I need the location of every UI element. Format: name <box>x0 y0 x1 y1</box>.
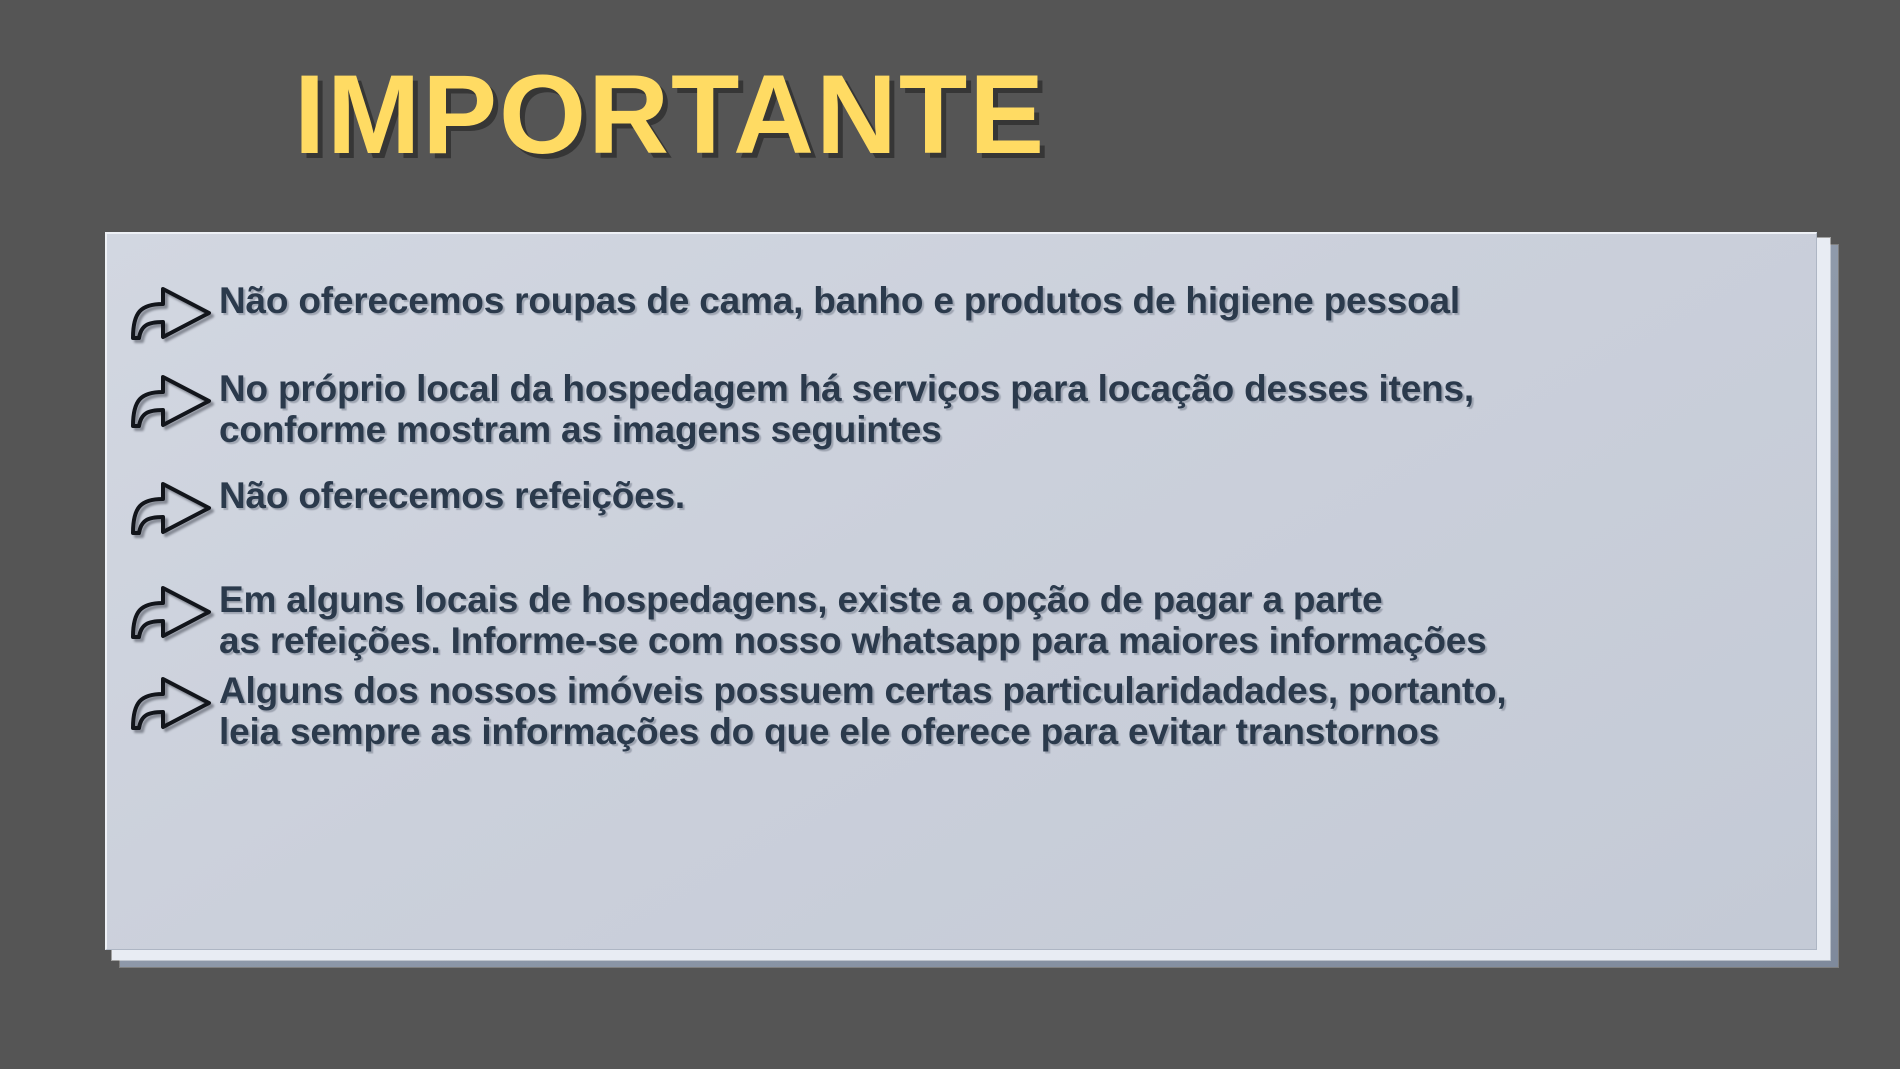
list-item-label: Não oferecemos roupas de cama, banho e p… <box>219 278 1460 321</box>
list-item: No próprio local da hospedagem há serviç… <box>121 366 1806 451</box>
list-item-label: No próprio local da hospedagem há serviç… <box>219 366 1474 451</box>
list-item: Não oferecemos refeições. <box>121 473 1806 539</box>
list-item: Alguns dos nossos imóveis possuem certas… <box>121 668 1806 753</box>
list-item-label: Em alguns locais de hospedagens, existe … <box>219 577 1486 662</box>
content-panel: Não oferecemos roupas de cama, banho e p… <box>105 232 1817 950</box>
curved-block-arrow-right-icon <box>127 581 215 643</box>
bullet-list: Não oferecemos roupas de cama, banho e p… <box>121 278 1806 753</box>
list-item-label: Não oferecemos refeições. <box>219 473 685 516</box>
page-title: IMPORTANTE <box>0 56 1340 174</box>
list-item-label: Alguns dos nossos imóveis possuem certas… <box>219 668 1507 753</box>
curved-block-arrow-right-icon <box>127 370 215 432</box>
slide-canvas: IMPORTANTE Não oferecemos roupas de cama… <box>0 0 1900 1069</box>
list-item: Em alguns locais de hospedagens, existe … <box>121 577 1806 662</box>
curved-block-arrow-right-icon <box>127 477 215 539</box>
list-item: Não oferecemos roupas de cama, banho e p… <box>121 278 1806 344</box>
curved-block-arrow-right-icon <box>127 282 215 344</box>
curved-block-arrow-right-icon <box>127 672 215 734</box>
